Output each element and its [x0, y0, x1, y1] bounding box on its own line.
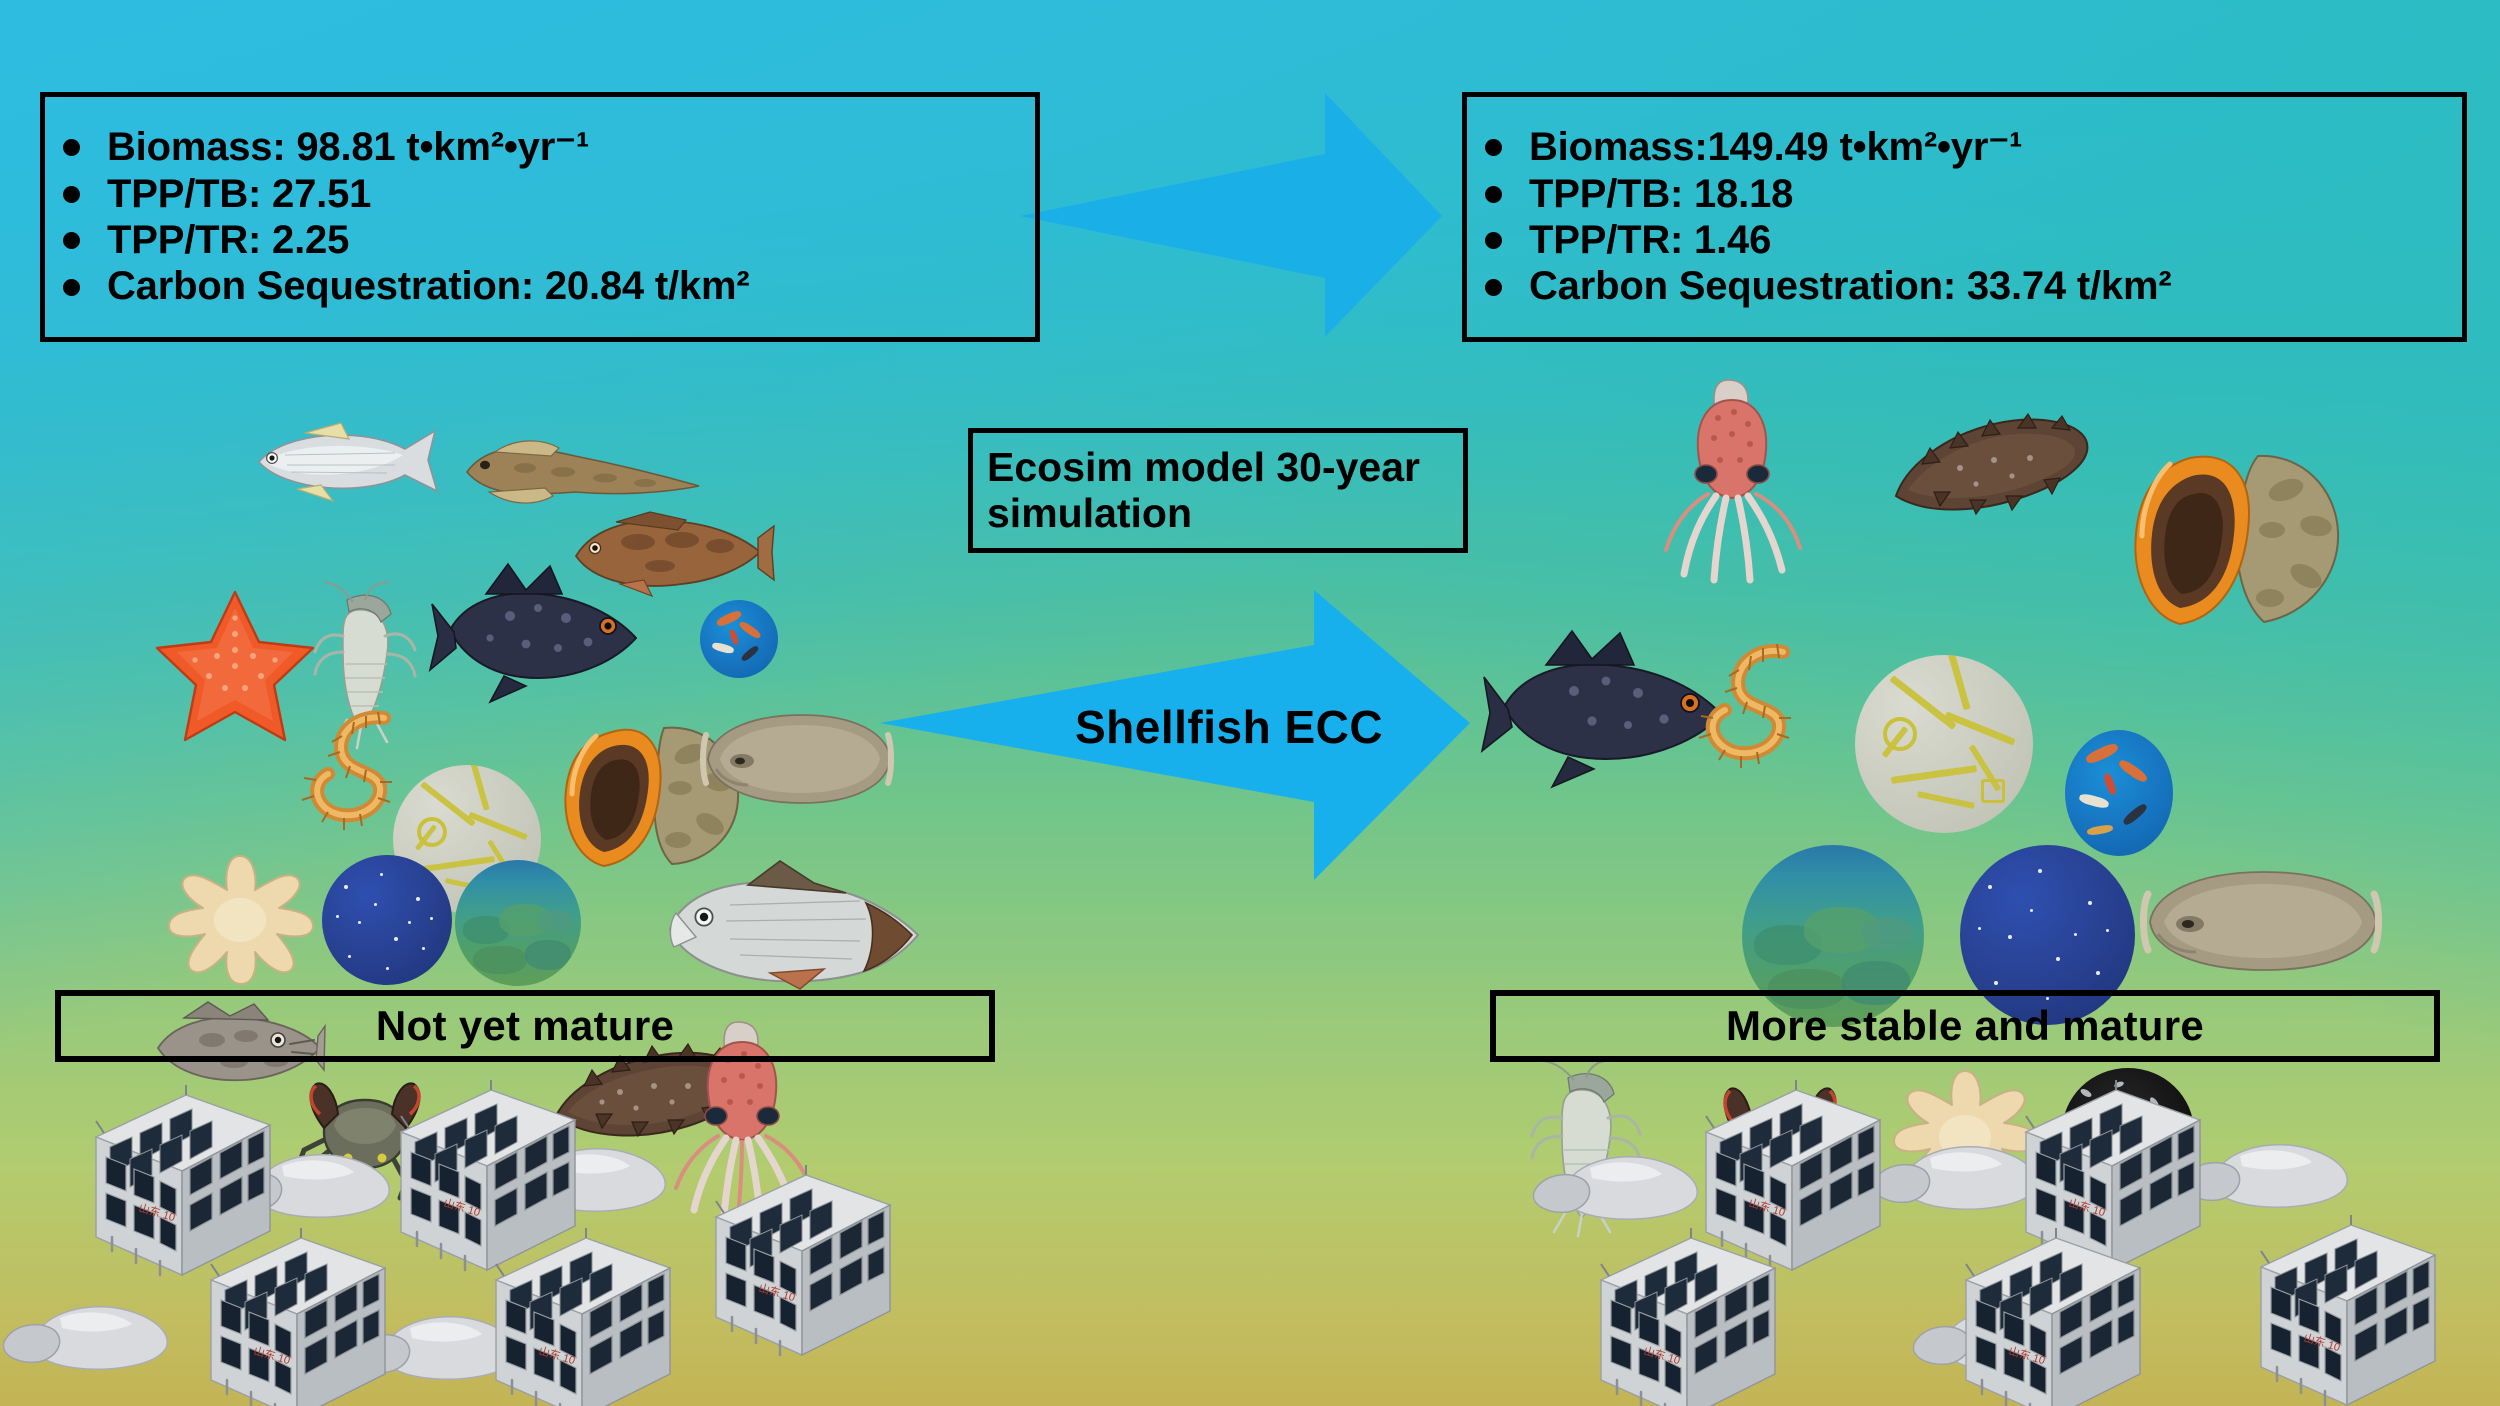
- silver-fish-icon: [245, 415, 445, 505]
- artificial-reef-block: 山东 10: [710, 1165, 895, 1365]
- artificial-reef-block: 山东 10: [490, 1228, 675, 1406]
- right-metric-biomass: Biomass:149.49 t•km²•yr⁻¹: [1477, 124, 2452, 170]
- left-metric-tpp-tb: TPP/TB: 27.51: [55, 171, 1025, 217]
- dark-scorpionfish-icon: [430, 560, 650, 705]
- sea-cucumber-icon: [1880, 400, 2095, 520]
- polychaete-worm-icon: [1695, 640, 1810, 770]
- cuttlefish-icon: [2140, 860, 2380, 980]
- right-metrics-list: Biomass:149.49 t•km²•yr⁻¹ TPP/TB: 18.18 …: [1477, 103, 2452, 331]
- squid-icon: [1650, 378, 1815, 583]
- artificial-reef-block: 山东 10: [205, 1228, 390, 1406]
- left-caption-box: Not yet mature: [55, 990, 995, 1062]
- reef-habitat-disc-icon: [455, 860, 581, 986]
- artificial-reef-block: 山东 10: [2255, 1215, 2440, 1406]
- right-metric-tpp-tr: TPP/TR: 1.46: [1477, 217, 2452, 263]
- rock-pile: [0, 1290, 180, 1375]
- right-caption-box: More stable and mature: [1490, 990, 2440, 1062]
- artificial-reef-block: 山东 10: [1960, 1228, 2145, 1406]
- rapa-whelk-icon: [2130, 450, 2345, 630]
- shellfish-ecc-label: Shellfish ECC: [1075, 700, 1383, 754]
- artificial-reef-block: 山东 10: [1595, 1228, 1780, 1406]
- right-metric-tpp-tb: TPP/TB: 18.18: [1477, 171, 2452, 217]
- sea-anemone-icon: [165, 840, 315, 985]
- phytoplankton-disc-icon: [1855, 655, 2033, 833]
- rock-pile: [2180, 1128, 2360, 1213]
- ecosystem-comparison-diagram: Shellfish ECC Biomass: 98.81 t•km²•yr⁻¹ …: [0, 0, 2500, 1406]
- left-metrics-list: Biomass: 98.81 t•km²•yr⁻¹ TPP/TB: 27.51 …: [55, 103, 1025, 331]
- benthos-disc-icon: [2065, 730, 2173, 856]
- right-metric-carbon: Carbon Sequestration: 33.74 t/km²: [1477, 263, 2452, 309]
- left-metric-carbon: Carbon Sequestration: 20.84 t/km²: [55, 263, 1025, 309]
- left-metric-tpp-tr: TPP/TR: 2.25: [55, 217, 1025, 263]
- zooplankton-disc-icon: [322, 855, 452, 985]
- polychaete-worm-icon: [300, 708, 410, 833]
- right-caption-text: More stable and mature: [1726, 1002, 2204, 1050]
- cuttlefish-icon: [700, 705, 895, 810]
- benthos-disc-icon: [700, 600, 778, 678]
- shellfish-ecc-arrow: [880, 590, 1520, 930]
- ecosim-model-label: Ecosim model 30-year simulation: [973, 445, 1463, 537]
- left-metrics-box: Biomass: 98.81 t•km²•yr⁻¹ TPP/TB: 27.51 …: [40, 92, 1040, 342]
- right-metrics-box: Biomass:149.49 t•km²•yr⁻¹ TPP/TB: 18.18 …: [1462, 92, 2467, 342]
- left-metric-biomass: Biomass: 98.81 t•km²•yr⁻¹: [55, 124, 1025, 170]
- ecosim-transition-arrow: [1020, 90, 1480, 340]
- croaker-fish-icon: [660, 855, 925, 990]
- sea-star-icon: [155, 588, 315, 743]
- ecosim-model-box: Ecosim model 30-year simulation: [968, 428, 1468, 553]
- rock-pile: [1530, 1140, 1710, 1225]
- left-caption-text: Not yet mature: [376, 1002, 674, 1050]
